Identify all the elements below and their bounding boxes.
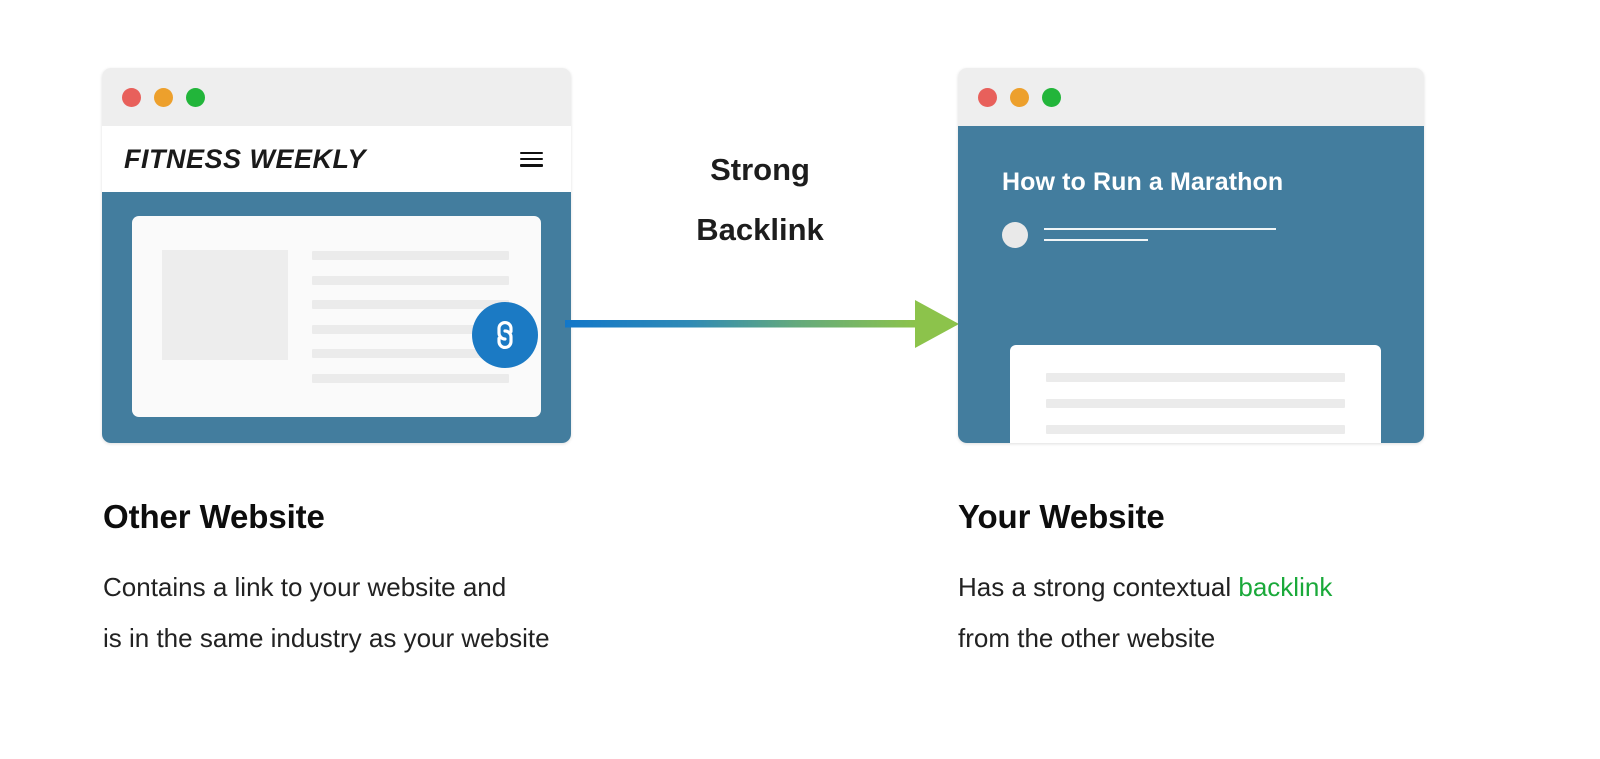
- article-card: [132, 216, 541, 417]
- other-website-caption: Other Website Contains a link to your we…: [103, 498, 550, 665]
- text-line: [312, 374, 509, 383]
- text-line: [1046, 425, 1345, 434]
- link-badge[interactable]: [472, 302, 538, 368]
- backlink-highlight-text: backlink: [1238, 572, 1332, 602]
- other-website-description-line-2: is in the same industry as your website: [103, 623, 550, 653]
- maximize-button-icon[interactable]: [1042, 88, 1061, 107]
- hamburger-menu-icon[interactable]: [520, 152, 543, 167]
- site-logo[interactable]: FITNESS WEEKLY: [124, 144, 366, 175]
- site-navigation-bar: FITNESS WEEKLY: [102, 126, 571, 192]
- your-website-description-line-1-pre: Has a strong contextual: [958, 572, 1238, 602]
- your-website-caption: Your Website Has a strong contextual bac…: [958, 498, 1332, 665]
- hamburger-line-2: [520, 158, 543, 161]
- text-line: [312, 300, 509, 309]
- maximize-button-icon[interactable]: [186, 88, 205, 107]
- post-title: How to Run a Marathon: [1002, 168, 1283, 197]
- other-website-browser-window: FITNESS WEEKLY: [102, 68, 571, 443]
- backlink-arrow-icon: [565, 294, 963, 354]
- left-window-titlebar: [102, 68, 571, 126]
- connector-label-line-1: Strong: [610, 140, 910, 200]
- hamburger-line-1: [520, 152, 543, 155]
- byline-meta-lines: [1044, 222, 1276, 241]
- close-button-icon[interactable]: [122, 88, 141, 107]
- byline-line-1: [1044, 228, 1276, 230]
- close-button-icon[interactable]: [978, 88, 997, 107]
- your-website-heading: Your Website: [958, 498, 1332, 536]
- text-line: [312, 251, 509, 260]
- text-line: [1046, 399, 1345, 408]
- connector-label-line-2: Backlink: [610, 200, 910, 260]
- link-chain-icon: [487, 317, 523, 353]
- article-thumbnail-placeholder: [162, 250, 288, 360]
- post-byline: [1002, 222, 1276, 248]
- post-body-card: [1010, 345, 1381, 443]
- right-window-titlebar: [958, 68, 1424, 126]
- minimize-button-icon[interactable]: [1010, 88, 1029, 107]
- text-line: [1046, 373, 1345, 382]
- minimize-button-icon[interactable]: [154, 88, 173, 107]
- other-website-description: Contains a link to your website and is i…: [103, 562, 550, 665]
- your-website-description-line-2: from the other website: [958, 623, 1215, 653]
- site-content-area: [102, 192, 571, 443]
- your-website-browser-window: How to Run a Marathon: [958, 68, 1424, 443]
- your-website-description: Has a strong contextual backlink from th…: [958, 562, 1332, 665]
- other-website-heading: Other Website: [103, 498, 550, 536]
- post-content-area: How to Run a Marathon: [958, 126, 1424, 443]
- author-avatar: [1002, 222, 1028, 248]
- connector-label: Strong Backlink: [610, 140, 910, 261]
- text-line: [312, 276, 509, 285]
- hamburger-line-3: [520, 164, 543, 167]
- other-website-description-line-1: Contains a link to your website and: [103, 572, 506, 602]
- byline-line-2: [1044, 239, 1148, 241]
